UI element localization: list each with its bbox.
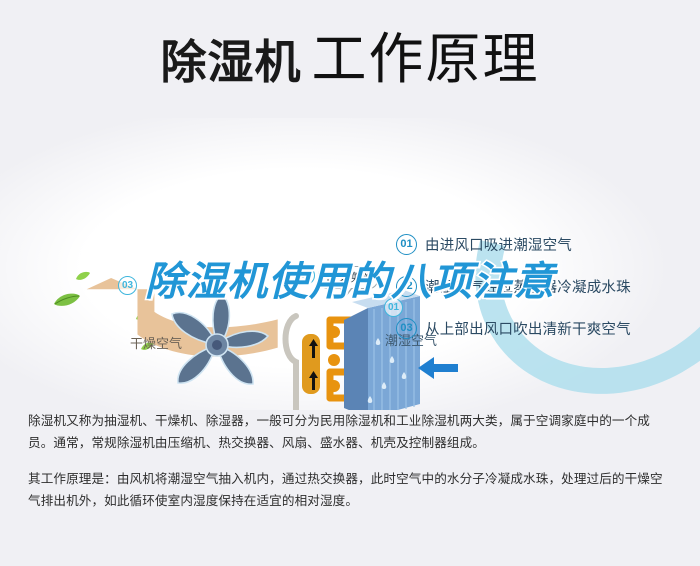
- page-title-bar: 除湿机 工作原理: [0, 0, 700, 118]
- process-step-list: 01 由进风口吸进潮湿空气 02 潮湿空气经过蒸发器冷凝成水珠 03 从上部出风…: [396, 223, 696, 349]
- page-title-part2: 工作原理: [311, 32, 539, 87]
- heat-exchanger-callout: 热交换器: [318, 266, 378, 289]
- dehumidifier-diagram: 干燥空气 潮湿空气 水箱 热交换器 03 02 01 01 由进风口吸进潮湿空气…: [0, 118, 700, 410]
- dry-air-label: 干燥空气: [130, 333, 182, 352]
- page-title: 除湿机 工作原理: [160, 32, 539, 87]
- list-item: 01 由进风口吸进潮湿空气: [396, 223, 696, 265]
- diagram-badge-03: 03: [118, 276, 137, 295]
- step-number: 01: [396, 234, 417, 255]
- body-paragraph-1: 除湿机又称为抽湿机、干燥机、除湿器，一般可分为民用除湿机和工业除湿机两大类，属于…: [28, 410, 672, 454]
- body-paragraph-2: 其工作原理是：由风机将潮湿空气抽入机内，通过热交换器，此时空气中的水分子冷凝成水…: [28, 468, 672, 512]
- step-text: 潮湿空气经过蒸发器冷凝成水珠: [425, 276, 631, 297]
- list-item: 03 从上部出风口吹出清新干爽空气: [396, 307, 696, 349]
- page-title-part1: 除湿机: [160, 39, 301, 85]
- step-number: 03: [396, 318, 417, 339]
- article-body: 除湿机又称为抽湿机、干燥机、除湿器，一般可分为民用除湿机和工业除湿机两大类，属于…: [0, 410, 700, 512]
- diagram-badge-02: 02: [296, 266, 315, 285]
- step-number: 02: [396, 276, 417, 297]
- step-text: 从上部出风口吹出清新干爽空气: [425, 318, 631, 339]
- list-item: 02 潮湿空气经过蒸发器冷凝成水珠: [396, 265, 696, 307]
- step-text: 由进风口吸进潮湿空气: [425, 234, 572, 255]
